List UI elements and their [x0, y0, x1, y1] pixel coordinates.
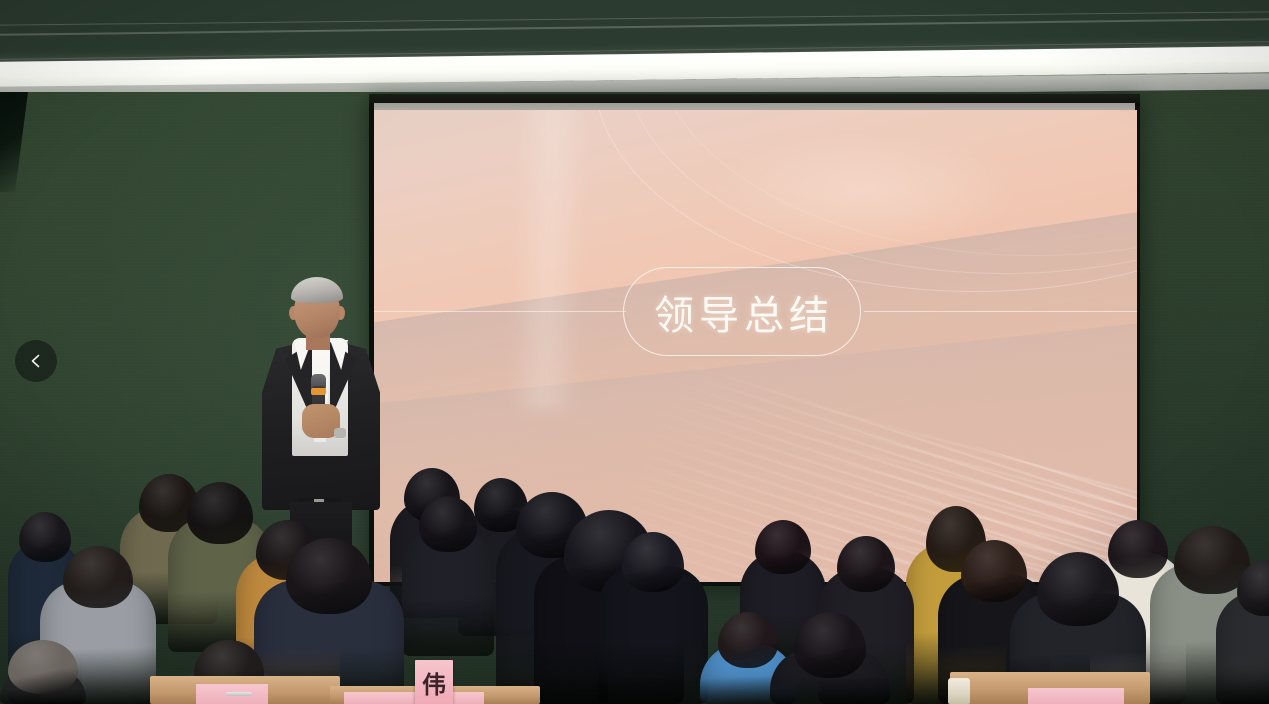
slide-hairline-left: [374, 311, 626, 312]
audience-member-head: [794, 612, 866, 678]
audience-member-head: [755, 520, 811, 574]
audience-member-15: [770, 612, 890, 704]
audience-member-head: [286, 538, 372, 614]
audience-member-head: [718, 612, 778, 668]
previous-image-button[interactable]: [15, 340, 57, 382]
pen-1: [226, 692, 252, 696]
microphone-accent-ring: [311, 388, 326, 395]
presentation-photo: 领导总结 伟: [0, 0, 1269, 704]
audience-member-8: [402, 496, 494, 656]
audience-member-head: [419, 496, 477, 552]
audience-member-head: [622, 532, 684, 592]
slide-hairline-right: [864, 311, 1137, 312]
audience-member-head: [1037, 552, 1119, 626]
ceiling-seam: [0, 11, 1269, 25]
projection-screen-top-rail: [369, 94, 1140, 103]
paper-sheet-3: [1028, 688, 1124, 704]
audience-member-22: [1216, 560, 1269, 704]
slide-title: 领导总结: [650, 283, 834, 341]
ceiling-seam: [0, 18, 1269, 36]
slide-light-sheen: [508, 110, 589, 411]
audience-member-12: [598, 532, 708, 704]
audience-member-head: [837, 536, 895, 592]
paper-sheet-2: [344, 692, 484, 704]
audience-member-head: [63, 546, 133, 608]
speaker-hair: [291, 277, 343, 303]
audience-member-23: [0, 640, 86, 704]
chevron-left-icon: [27, 352, 45, 370]
audience-member-head: [8, 640, 78, 694]
name-placard-text: 伟: [422, 665, 446, 700]
name-placard-wei: 伟: [415, 660, 453, 704]
slide-title-pill: 领导总结: [623, 267, 861, 356]
water-bottle-1: [948, 678, 970, 704]
speaker-wristwatch: [334, 428, 346, 438]
